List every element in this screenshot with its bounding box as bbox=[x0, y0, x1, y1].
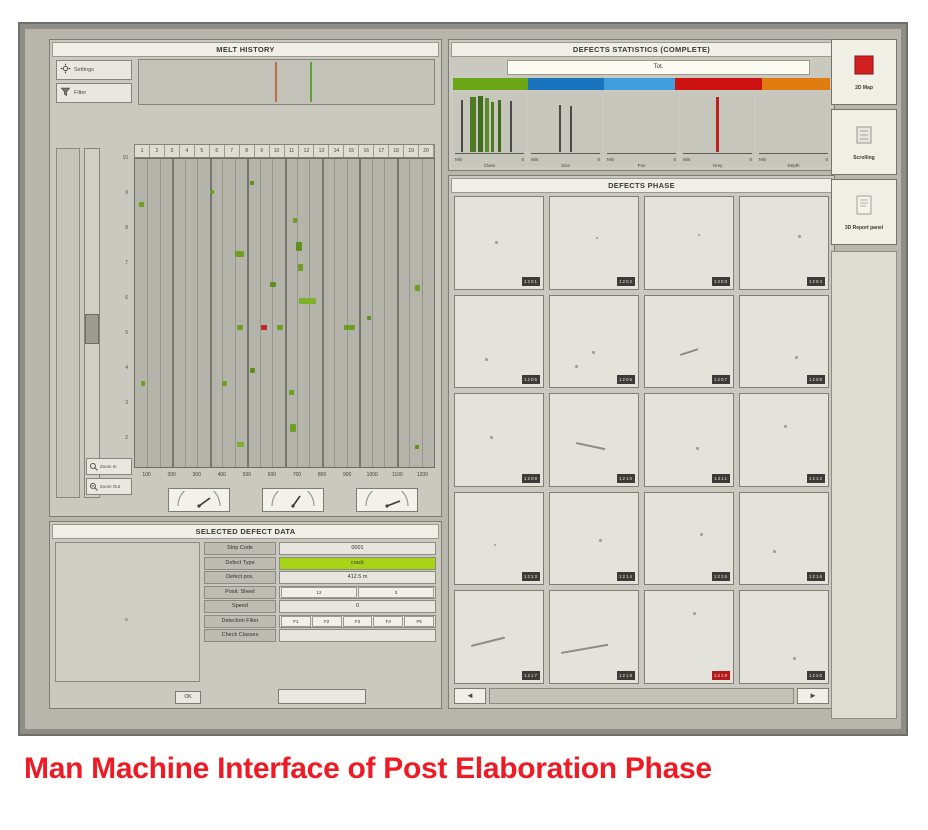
lane-line bbox=[309, 159, 310, 467]
defect-data-value: 0001 bbox=[279, 542, 436, 555]
column-header-cell: 16 bbox=[359, 145, 374, 157]
defect-marker[interactable] bbox=[237, 325, 243, 330]
column-header-cell: 6 bbox=[210, 145, 225, 157]
defect-marker[interactable] bbox=[270, 282, 276, 287]
column-header-cell: 17 bbox=[374, 145, 389, 157]
thumbnail-badge: 1210 bbox=[617, 474, 635, 483]
lane-line bbox=[172, 159, 174, 467]
thumbnail-badge: 1208 bbox=[807, 375, 825, 384]
report-icon bbox=[853, 194, 875, 221]
y-axis-tick: 9 bbox=[106, 190, 128, 196]
defect-scratch bbox=[560, 644, 607, 654]
thumbnail-badge: 1205 bbox=[522, 375, 540, 384]
thumbnail-badge: 1207 bbox=[712, 375, 730, 384]
defect-thumbnail[interactable]: 1220 bbox=[739, 590, 829, 684]
column-header-cell: 2 bbox=[150, 145, 165, 157]
side-tab-scrolling-label: Scrolling bbox=[853, 155, 874, 161]
y-axis-tick: 3 bbox=[106, 400, 128, 406]
color-bar-segment bbox=[528, 78, 603, 90]
zoom-out-button[interactable]: Zoom Out bbox=[86, 478, 132, 495]
x-axis-tick: 400 bbox=[209, 472, 234, 484]
x-axis-tick: 1000 bbox=[360, 472, 385, 484]
lane-line bbox=[147, 159, 148, 467]
histogram: Min0Class bbox=[453, 93, 526, 166]
x-axis-tick: 800 bbox=[310, 472, 335, 484]
defect-thumbnail[interactable]: 1214 bbox=[549, 492, 639, 586]
lane-line bbox=[197, 159, 198, 467]
melt-history-button-group: Settings Filter bbox=[56, 60, 132, 106]
side-tab-bar: 2D Map Scrolling 3D Report panel bbox=[831, 39, 897, 249]
defect-thumbnail[interactable]: 1217 bbox=[454, 590, 544, 684]
defect-marker[interactable] bbox=[344, 325, 355, 330]
defect-marker[interactable] bbox=[296, 242, 302, 251]
lane-line bbox=[334, 159, 335, 467]
column-header-cell: 4 bbox=[180, 145, 195, 157]
defect-scratch bbox=[576, 442, 606, 450]
defect-data-value: 123 bbox=[279, 586, 436, 599]
thumbnail-badge: 1215 bbox=[712, 572, 730, 581]
defect-data-subvalue: F1 bbox=[281, 616, 311, 627]
histogram-bar bbox=[559, 105, 562, 152]
zoom-in-button[interactable]: Zoom In bbox=[86, 458, 132, 475]
defect-marker[interactable] bbox=[210, 190, 214, 194]
defect-data-label: Defect Type bbox=[204, 557, 276, 570]
column-header-cell: 18 bbox=[389, 145, 404, 157]
lane-line bbox=[272, 159, 273, 467]
color-bar-segment bbox=[604, 78, 676, 90]
defect-data-subvalue: F2 bbox=[312, 616, 342, 627]
defect-thumbnail[interactable]: 1216 bbox=[739, 492, 829, 586]
side-tab-2d-map-label: 2D Map bbox=[855, 85, 873, 91]
defect-speck bbox=[798, 235, 801, 238]
defect-thumbnail[interactable]: 1205 bbox=[454, 295, 544, 389]
defect-thumbnail[interactable]: 1203 bbox=[644, 196, 734, 290]
defect-speck bbox=[773, 550, 776, 553]
melt-column-header: 1234567891011121314151617181920 bbox=[134, 144, 435, 158]
defect-data-value: 0 bbox=[279, 600, 436, 613]
defect-marker[interactable] bbox=[250, 368, 255, 373]
histogram: Min0Pos bbox=[605, 93, 678, 166]
defect-thumbnail[interactable]: 1201 bbox=[454, 196, 544, 290]
thumbnail-badge: 1201 bbox=[522, 277, 540, 286]
defect-speck bbox=[596, 237, 598, 239]
histogram-bars bbox=[531, 95, 600, 152]
defect-data-label: Defect pos. bbox=[204, 571, 276, 584]
column-header-cell: 14 bbox=[329, 145, 344, 157]
histogram-axis-min: Min bbox=[531, 157, 538, 162]
defect-marker[interactable] bbox=[289, 390, 294, 395]
defect-data-row: Detection FilterF1F2F3F4F5 bbox=[204, 615, 436, 628]
zoom-in-icon bbox=[89, 458, 98, 476]
lane-line bbox=[185, 159, 186, 467]
column-header-cell: 9 bbox=[255, 145, 270, 157]
y-axis-tick: 8 bbox=[106, 225, 128, 231]
defect-data-subvalue: F4 bbox=[373, 616, 403, 627]
color-bar-segment bbox=[762, 78, 830, 90]
red-square-icon bbox=[853, 54, 875, 81]
column-header-cell: 11 bbox=[285, 145, 300, 157]
defects-next-button[interactable]: ► bbox=[797, 688, 829, 704]
thumbnail-badge: 1218 bbox=[617, 671, 635, 680]
lane-line bbox=[247, 159, 249, 467]
histogram-axis-max: 0 bbox=[521, 157, 524, 162]
application-window: MELT HISTORY Settings Filter bbox=[25, 29, 901, 729]
defect-data-row: Defect pos.412.5 m bbox=[204, 571, 436, 584]
thumbnail-badge: 1209 bbox=[522, 474, 540, 483]
histogram-bar bbox=[491, 102, 494, 152]
defect-data-subvalue: F3 bbox=[343, 616, 373, 627]
histogram-bar bbox=[716, 97, 719, 152]
histogram-bar bbox=[570, 106, 573, 152]
page-root: MELT HISTORY Settings Filter bbox=[0, 0, 928, 830]
defect-speck bbox=[485, 358, 488, 361]
defects-statistics-panel: DEFECTS STATISTICS (COMPLETE) Tot. Min0C… bbox=[448, 39, 835, 171]
figure-caption: Man Machine Interface of Post Elaboratio… bbox=[24, 752, 904, 786]
x-axis-tick: 600 bbox=[259, 472, 284, 484]
histogram-axis-min: Min bbox=[683, 157, 690, 162]
defect-marker[interactable] bbox=[415, 285, 420, 291]
gauge-tension[interactable] bbox=[356, 488, 418, 512]
strip-map[interactable] bbox=[134, 158, 435, 468]
defect-marker[interactable] bbox=[222, 381, 227, 386]
histogram-axis bbox=[683, 153, 752, 154]
thumbnail-badge: 1217 bbox=[522, 671, 540, 680]
defect-speck bbox=[793, 657, 796, 660]
defects-phase-panel: DEFECTS PHASE 12011202120312041205120612… bbox=[448, 175, 835, 709]
defect-thumbnail[interactable]: 1206 bbox=[549, 295, 639, 389]
defect-marker[interactable] bbox=[141, 381, 145, 386]
thumbnail-badge: 1203 bbox=[712, 277, 730, 286]
defect-marker[interactable] bbox=[139, 202, 144, 207]
defect-speck bbox=[693, 612, 696, 615]
thumbnail-badge: 1213 bbox=[522, 572, 540, 581]
gear-icon bbox=[60, 61, 71, 79]
melt-filter-label: Filter bbox=[74, 90, 86, 96]
gauge-thickness[interactable] bbox=[262, 488, 324, 512]
defect-data-row: Speed0 bbox=[204, 600, 436, 613]
selected-defect-table: Strip Code0001Defect TypecrackDefect pos… bbox=[204, 542, 436, 682]
column-header-cell: 15 bbox=[344, 145, 359, 157]
side-tab-scrolling[interactable]: Scrolling bbox=[831, 109, 897, 175]
defect-marker[interactable] bbox=[299, 298, 316, 304]
defect-data-subvalue: F5 bbox=[404, 616, 434, 627]
defects-statistics-title: DEFECTS STATISTICS (COMPLETE) bbox=[451, 42, 832, 57]
selected-defect-ok-button[interactable]: OK bbox=[175, 691, 201, 704]
lane-line bbox=[359, 159, 361, 467]
y-axis-tick: 5 bbox=[106, 330, 128, 336]
color-bar-segment bbox=[675, 78, 762, 90]
lane-line bbox=[235, 159, 236, 467]
defect-data-value: F1F2F3F4F5 bbox=[279, 615, 436, 628]
defects-prev-button[interactable]: ◄ bbox=[454, 688, 486, 704]
column-header-cell: 13 bbox=[314, 145, 329, 157]
histogram-axis-min: Min bbox=[759, 157, 766, 162]
histogram-axis-min: Min bbox=[607, 157, 614, 162]
defect-thumbnail[interactable]: 1207 bbox=[644, 295, 734, 389]
side-panel-filler bbox=[831, 251, 897, 719]
column-header-cell: 5 bbox=[195, 145, 210, 157]
histogram-axis bbox=[455, 153, 524, 154]
defect-data-subvalue: 12 bbox=[281, 587, 357, 598]
defect-data-label: Check Classes bbox=[204, 629, 276, 642]
column-header-cell: 19 bbox=[404, 145, 419, 157]
defect-thumbnail[interactable]: 1210 bbox=[549, 393, 639, 487]
melt-x-axis: 100200300400500600700800900100011001200 bbox=[134, 472, 435, 484]
defect-data-label: Posit. Sheet bbox=[204, 586, 276, 599]
color-bar-segment bbox=[453, 78, 528, 90]
zoom-out-icon bbox=[89, 478, 98, 496]
melt-filter-button[interactable]: Filter bbox=[56, 83, 132, 103]
defect-thumbnail[interactable]: 1212 bbox=[739, 393, 829, 487]
defect-thumbnail[interactable]: 1202 bbox=[549, 196, 639, 290]
melt-zoom-tools: Zoom In Zoom Out bbox=[86, 458, 132, 498]
defect-thumbnail[interactable]: 1218 bbox=[549, 590, 639, 684]
defect-speck bbox=[700, 533, 703, 536]
defect-thumbnail-grid: 1201120212031204120512061207120812091210… bbox=[454, 196, 829, 684]
thumbnail-badge: 1202 bbox=[617, 277, 635, 286]
defect-speck bbox=[696, 447, 699, 450]
histogram-bars bbox=[759, 95, 828, 152]
selected-defect-image[interactable] bbox=[55, 542, 200, 682]
defect-speck bbox=[599, 539, 602, 542]
defect-marker[interactable] bbox=[367, 316, 371, 320]
melt-history-panel: MELT HISTORY Settings Filter bbox=[49, 39, 442, 517]
defect-marker[interactable] bbox=[277, 325, 283, 330]
defect-thumbnail[interactable]: 1219 bbox=[644, 590, 734, 684]
melt-history-title: MELT HISTORY bbox=[52, 42, 439, 57]
thumbnail-badge: 1212 bbox=[807, 474, 825, 483]
histogram-axis-max: 0 bbox=[673, 157, 676, 162]
thumbnail-badge: 1204 bbox=[807, 277, 825, 286]
defect-thumbnail[interactable]: 1209 bbox=[454, 393, 544, 487]
lane-line bbox=[409, 159, 410, 467]
defect-marker[interactable] bbox=[237, 442, 244, 447]
trend-marker bbox=[310, 62, 312, 102]
histogram-caption: Grey bbox=[681, 163, 754, 168]
side-tab-2d-map[interactable]: 2D Map bbox=[831, 39, 897, 105]
melt-settings-label: Settings bbox=[74, 67, 94, 73]
defect-thumbnail[interactable]: 1215 bbox=[644, 492, 734, 586]
y-axis-tick: 10 bbox=[106, 155, 128, 161]
lane-line bbox=[384, 159, 385, 467]
side-tab-3d-report-label: 3D Report panel bbox=[845, 225, 883, 231]
defect-data-value bbox=[279, 629, 436, 642]
thumbnail-badge: 1219 bbox=[712, 671, 730, 680]
histogram-axis bbox=[531, 153, 600, 154]
x-axis-tick: 900 bbox=[335, 472, 360, 484]
defect-data-label: Speed bbox=[204, 600, 276, 613]
lane-line bbox=[260, 159, 261, 467]
histogram-bars bbox=[683, 95, 752, 152]
histogram-bar bbox=[478, 96, 484, 152]
histogram-caption: Class bbox=[453, 163, 526, 168]
defect-marker[interactable] bbox=[415, 445, 419, 449]
defect-thumbnail[interactable]: 1213 bbox=[454, 492, 544, 586]
thumbnail-badge: 1206 bbox=[617, 375, 635, 384]
y-axis-tick: 4 bbox=[106, 365, 128, 371]
melt-trend-plot bbox=[138, 59, 435, 105]
defect-marker[interactable] bbox=[235, 251, 244, 257]
selected-defect-wide-button[interactable] bbox=[278, 689, 366, 704]
defect-marker[interactable] bbox=[290, 424, 296, 432]
histogram-axis-min: Min bbox=[455, 157, 462, 162]
funnel-icon bbox=[60, 84, 71, 102]
defect-marker[interactable] bbox=[261, 325, 267, 330]
lane-line bbox=[422, 159, 423, 467]
column-header-cell: 20 bbox=[419, 145, 434, 157]
column-header-cell: 3 bbox=[165, 145, 180, 157]
strip-icon bbox=[853, 124, 875, 151]
lane-line bbox=[297, 159, 298, 467]
histogram-bar bbox=[461, 100, 463, 152]
thumbnail-badge: 1216 bbox=[807, 572, 825, 581]
defects-phase-title: DEFECTS PHASE bbox=[451, 178, 832, 193]
melt-side-strip bbox=[56, 148, 80, 498]
defect-data-label: Detection Filter bbox=[204, 615, 276, 628]
histogram: Min0Size bbox=[529, 93, 602, 166]
melt-settings-button[interactable]: Settings bbox=[56, 60, 132, 80]
gauge-speed[interactable] bbox=[168, 488, 230, 512]
defect-speck bbox=[698, 234, 700, 236]
melt-vertical-scrollbar[interactable] bbox=[84, 148, 100, 498]
x-axis-tick: 1100 bbox=[385, 472, 410, 484]
selected-defect-data-panel: SELECTED DEFECT DATA Strip Code0001Defec… bbox=[49, 521, 442, 709]
column-header-cell: 1 bbox=[135, 145, 150, 157]
x-axis-tick: 300 bbox=[184, 472, 209, 484]
defect-data-value: 412.5 m bbox=[279, 571, 436, 584]
defects-scroll-track[interactable] bbox=[489, 688, 794, 704]
defects-total-field: Tot. bbox=[507, 60, 810, 75]
defect-class-color-bar bbox=[453, 78, 830, 90]
x-axis-tick: 700 bbox=[284, 472, 309, 484]
zoom-out-label: Zoom Out bbox=[100, 484, 120, 489]
column-header-cell: 12 bbox=[299, 145, 314, 157]
histogram-axis-max: 0 bbox=[597, 157, 600, 162]
defect-thumbnail[interactable]: 1211 bbox=[644, 393, 734, 487]
column-header-cell: 7 bbox=[225, 145, 240, 157]
histogram-axis bbox=[759, 153, 828, 154]
selected-defect-title: SELECTED DEFECT DATA bbox=[52, 524, 439, 539]
defect-speck bbox=[495, 241, 498, 244]
defect-speck bbox=[494, 544, 496, 546]
defect-speck bbox=[490, 436, 493, 439]
lane-line bbox=[397, 159, 399, 467]
lane-line bbox=[222, 159, 223, 467]
defect-data-label: Strip Code bbox=[204, 542, 276, 555]
histogram-caption: Pos bbox=[605, 163, 678, 168]
lane-line bbox=[285, 159, 287, 467]
column-header-cell: 8 bbox=[240, 145, 255, 157]
defect-scratch bbox=[471, 636, 506, 646]
histogram: Min0Grey bbox=[681, 93, 754, 166]
application-screenshot: MELT HISTORY Settings Filter bbox=[18, 22, 908, 736]
histogram-bar bbox=[510, 101, 512, 152]
histogram-bar bbox=[470, 97, 476, 152]
thumbnail-badge: 1211 bbox=[712, 474, 730, 483]
defect-marker[interactable] bbox=[250, 181, 254, 185]
defect-data-row: Defect Typecrack bbox=[204, 557, 436, 570]
defect-data-row: Check Classes bbox=[204, 629, 436, 642]
histogram-bar bbox=[485, 98, 489, 152]
defect-marker[interactable] bbox=[293, 218, 297, 223]
histogram-bars bbox=[607, 95, 676, 152]
defect-data-subvalue: 3 bbox=[358, 587, 434, 598]
zoom-in-label: Zoom In bbox=[100, 464, 117, 469]
melt-y-axis: 10987654321 bbox=[106, 148, 128, 498]
side-tab-3d-report[interactable]: 3D Report panel bbox=[831, 179, 897, 245]
column-header-cell: 10 bbox=[270, 145, 285, 157]
thumbnail-badge: 1214 bbox=[617, 572, 635, 581]
x-axis-tick: 100 bbox=[134, 472, 159, 484]
defect-speck bbox=[784, 425, 787, 428]
lane-line bbox=[322, 159, 324, 467]
defect-scratch bbox=[680, 348, 699, 355]
x-axis-tick: 500 bbox=[234, 472, 259, 484]
histogram-bars bbox=[455, 95, 524, 152]
trend-marker bbox=[275, 62, 277, 102]
lane-line bbox=[210, 159, 212, 467]
lane-line bbox=[160, 159, 161, 467]
defect-histograms: Min0ClassMin0SizeMin0PosMin0GreyMin0Dept… bbox=[453, 93, 830, 166]
histogram-axis bbox=[607, 153, 676, 154]
x-axis-tick: 200 bbox=[159, 472, 184, 484]
histogram-axis-max: 0 bbox=[825, 157, 828, 162]
defect-thumbnail[interactable]: 1204 bbox=[739, 196, 829, 290]
histogram-caption: Depth bbox=[757, 163, 830, 168]
histogram-caption: Size bbox=[529, 163, 602, 168]
defect-speck bbox=[575, 365, 578, 368]
defect-speck bbox=[795, 356, 798, 359]
histogram-bar bbox=[498, 100, 501, 152]
defect-marker[interactable] bbox=[298, 264, 303, 271]
y-axis-tick: 7 bbox=[106, 260, 128, 266]
defect-data-row: Strip Code0001 bbox=[204, 542, 436, 555]
defect-data-row: Posit. Sheet123 bbox=[204, 586, 436, 599]
lane-line bbox=[347, 159, 348, 467]
histogram-axis-max: 0 bbox=[749, 157, 752, 162]
y-axis-tick: 6 bbox=[106, 295, 128, 301]
scrollbar-thumb[interactable] bbox=[85, 314, 99, 344]
defect-data-value: crack bbox=[279, 557, 436, 570]
y-axis-tick: 2 bbox=[106, 435, 128, 441]
defect-speck bbox=[592, 351, 595, 354]
lane-line bbox=[372, 159, 373, 467]
x-axis-tick: 1200 bbox=[410, 472, 435, 484]
defect-thumbnail[interactable]: 1208 bbox=[739, 295, 829, 389]
histogram: Min0Depth bbox=[757, 93, 830, 166]
thumbnail-badge: 1220 bbox=[807, 671, 825, 680]
